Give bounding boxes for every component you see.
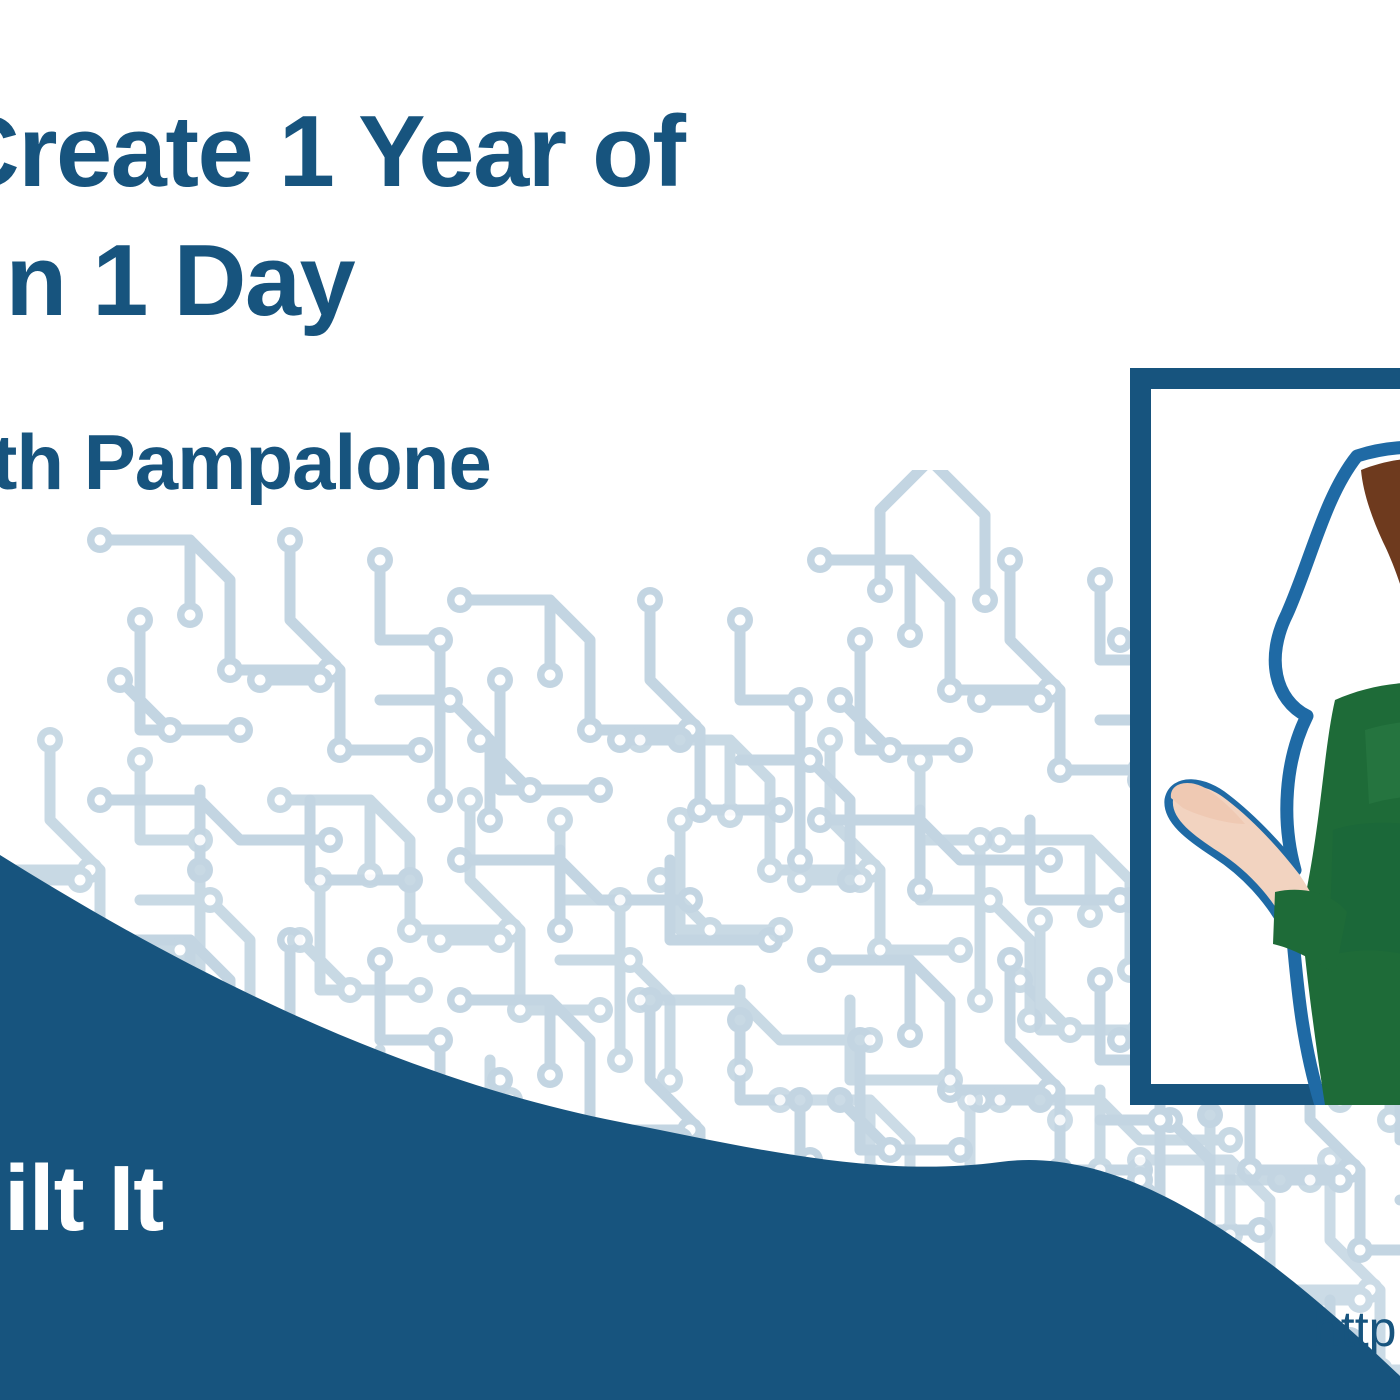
speaker-name: abeth Pampalone	[0, 423, 1120, 501]
episode-number: 5	[0, 1277, 163, 1355]
podcast-branding: Built It 5	[0, 1152, 163, 1355]
podcast-title: Built It	[0, 1152, 163, 1245]
title-line-2: nt in 1 Day	[0, 217, 1120, 346]
website-url[interactable]: http	[1313, 1300, 1396, 1358]
podcast-cover-card: o Create 1 Year of nt in 1 Day abeth Pam…	[0, 0, 1400, 1400]
guest-headshot	[1125, 400, 1400, 1120]
headline-block: o Create 1 Year of nt in 1 Day abeth Pam…	[0, 88, 1120, 501]
title-line-1: o Create 1 Year of	[0, 88, 1120, 217]
